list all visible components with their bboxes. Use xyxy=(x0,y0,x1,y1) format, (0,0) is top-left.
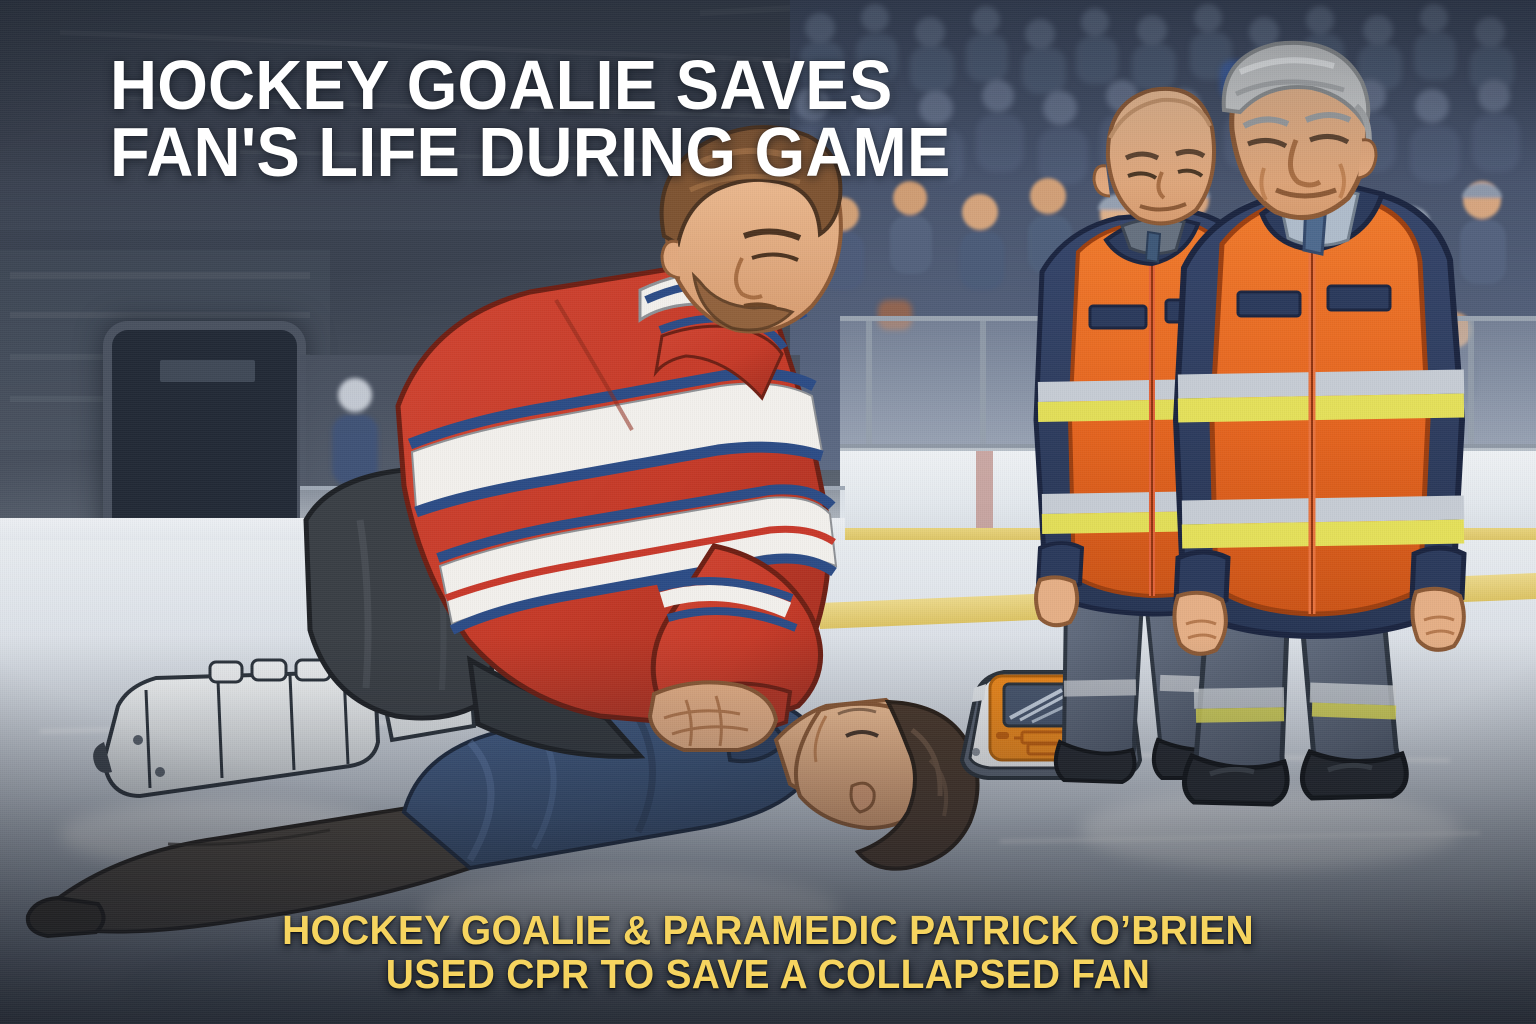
headline-line-2: FAN'S LIFE DURING GAME xyxy=(110,119,1040,186)
hockey-goalie xyxy=(306,127,841,756)
paramedic-grey-haired xyxy=(1174,43,1464,804)
caption-text: HOCKEY GOALIE & PARAMEDIC PATRICK O’BRIE… xyxy=(0,908,1536,997)
caption-line-1: HOCKEY GOALIE & PARAMEDIC PATRICK O’BRIE… xyxy=(38,908,1497,952)
headline-line-1: HOCKEY GOALIE SAVES xyxy=(110,52,1040,119)
headline-text: HOCKEY GOALIE SAVES FAN'S LIFE DURING GA… xyxy=(110,52,1040,186)
caption-line-2: USED CPR TO SAVE A COLLAPSED FAN xyxy=(38,952,1497,996)
news-thumbnail-image: HOCKEY GOALIE SAVES FAN'S LIFE DURING GA… xyxy=(0,0,1536,1024)
